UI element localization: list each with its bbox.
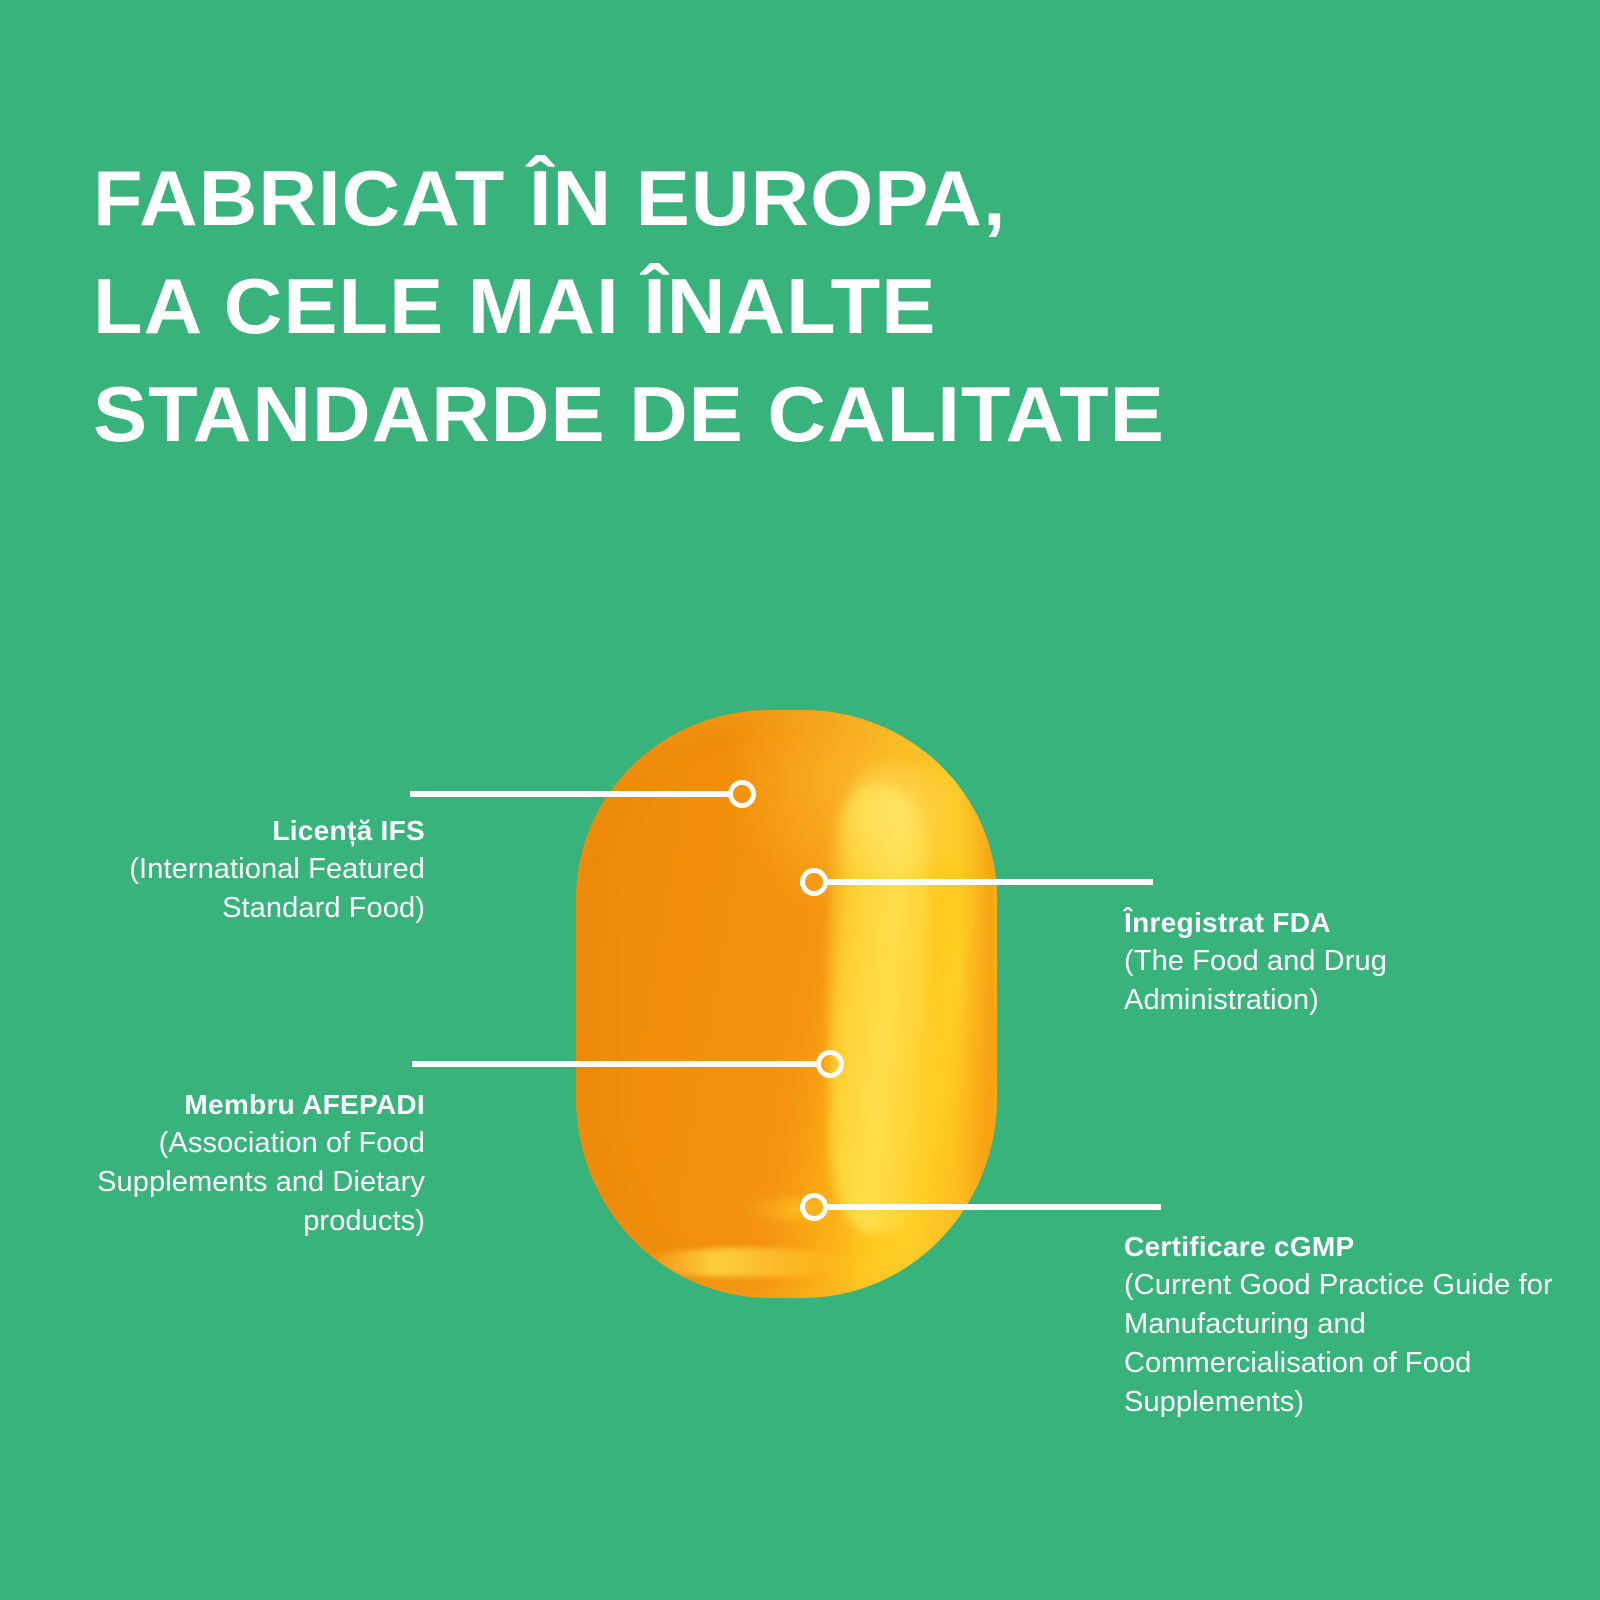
capsule-gloss-spot bbox=[837, 763, 963, 892]
callout-ifs: Licență IFS (International Featured Stan… bbox=[30, 812, 425, 928]
leader-dot-ifs bbox=[728, 780, 756, 808]
leader-dot-fda bbox=[800, 868, 828, 896]
capsule-bottom-streak bbox=[643, 1248, 854, 1277]
leader-line-afepadi bbox=[412, 1061, 816, 1067]
headline-line-1: Fabricat în Europa, bbox=[93, 144, 1393, 252]
callout-ifs-subtitle: (International Featured Standard Food) bbox=[30, 850, 425, 928]
callout-fda-title: Înregistrat FDA bbox=[1124, 904, 1544, 942]
capsule-right-edge-shade bbox=[959, 745, 997, 1262]
leader-dot-cgmp bbox=[800, 1193, 828, 1221]
callout-ifs-title: Licență IFS bbox=[30, 812, 425, 850]
callout-afepadi-subtitle: (Association of Food Supplements and Die… bbox=[20, 1124, 425, 1241]
callout-afepadi: Membru AFEPADI (Association of Food Supp… bbox=[20, 1086, 425, 1241]
callout-cgmp: Certificare cGMP (Current Good Practice … bbox=[1124, 1228, 1554, 1422]
callout-afepadi-title: Membru AFEPADI bbox=[20, 1086, 425, 1124]
leader-line-fda bbox=[828, 879, 1153, 885]
callout-cgmp-title: Certificare cGMP bbox=[1124, 1228, 1554, 1266]
callout-fda: Înregistrat FDA (The Food and Drug Admin… bbox=[1124, 904, 1544, 1020]
callout-cgmp-subtitle: (Current Good Practice Guide for Manufac… bbox=[1124, 1266, 1554, 1422]
page-title: Fabricat în Europa, la cele mai înalte S… bbox=[93, 144, 1393, 468]
headline-line-2: la cele mai înalte bbox=[93, 252, 1393, 360]
infographic-canvas: Fabricat în Europa, la cele mai înalte S… bbox=[0, 0, 1600, 1600]
headline-line-3: Standarde de calitate bbox=[93, 360, 1393, 468]
leader-line-cgmp bbox=[828, 1204, 1161, 1210]
leader-line-ifs bbox=[410, 791, 728, 797]
callout-fda-subtitle: (The Food and Drug Administration) bbox=[1124, 942, 1544, 1020]
leader-dot-afepadi bbox=[816, 1050, 844, 1078]
